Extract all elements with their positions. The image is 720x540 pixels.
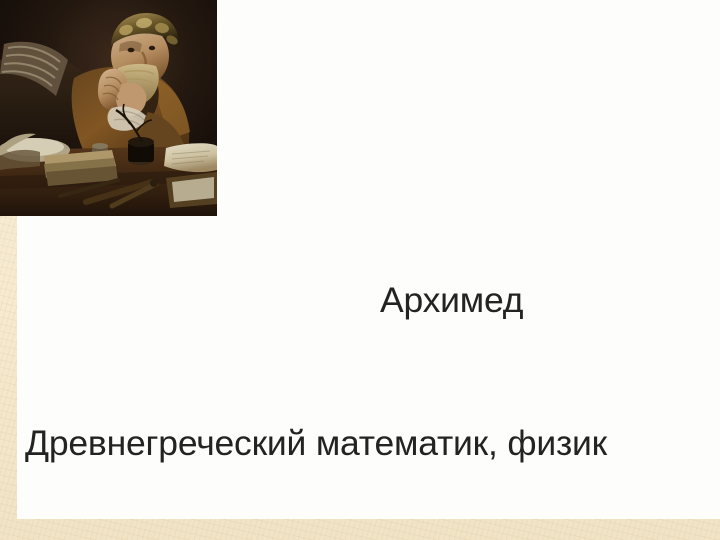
body-line-2: Древнегреческий математик, физик (25, 420, 720, 468)
background-left-margin (0, 216, 17, 519)
slide-canvas: Архимед Древнегреческий математик, физик… (0, 0, 720, 540)
body-line-1: Архимед (25, 277, 720, 325)
slide-body-text: Архимед Древнегреческий математик, физик… (25, 182, 720, 540)
